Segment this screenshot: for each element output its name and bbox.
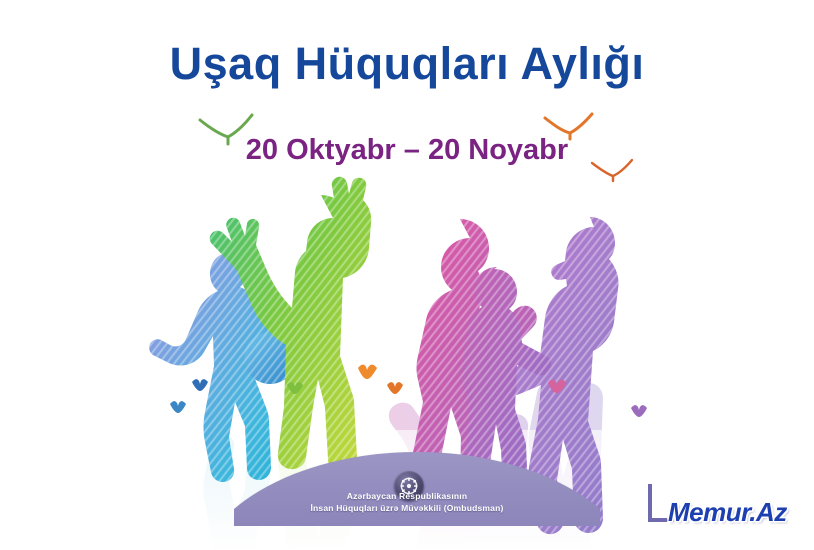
butterfly-blue-far-left bbox=[170, 401, 186, 413]
page-subtitle-dates: 20 Oktyabr – 20 Noyabr bbox=[0, 134, 814, 167]
butterfly-blue-left bbox=[192, 379, 208, 391]
butterfly-purple-far-right bbox=[631, 405, 647, 417]
butterfly-orange-lower bbox=[387, 382, 403, 394]
watermark-memur-az: Memur.Az bbox=[668, 497, 787, 528]
page-title: Uşaq Hüquqları Aylığı bbox=[0, 38, 814, 90]
poster-canvas: Uşaq Hüquqları Aylığı 20 Oktyabr – 20 No… bbox=[0, 0, 814, 550]
butterfly-orange-right bbox=[358, 365, 377, 379]
